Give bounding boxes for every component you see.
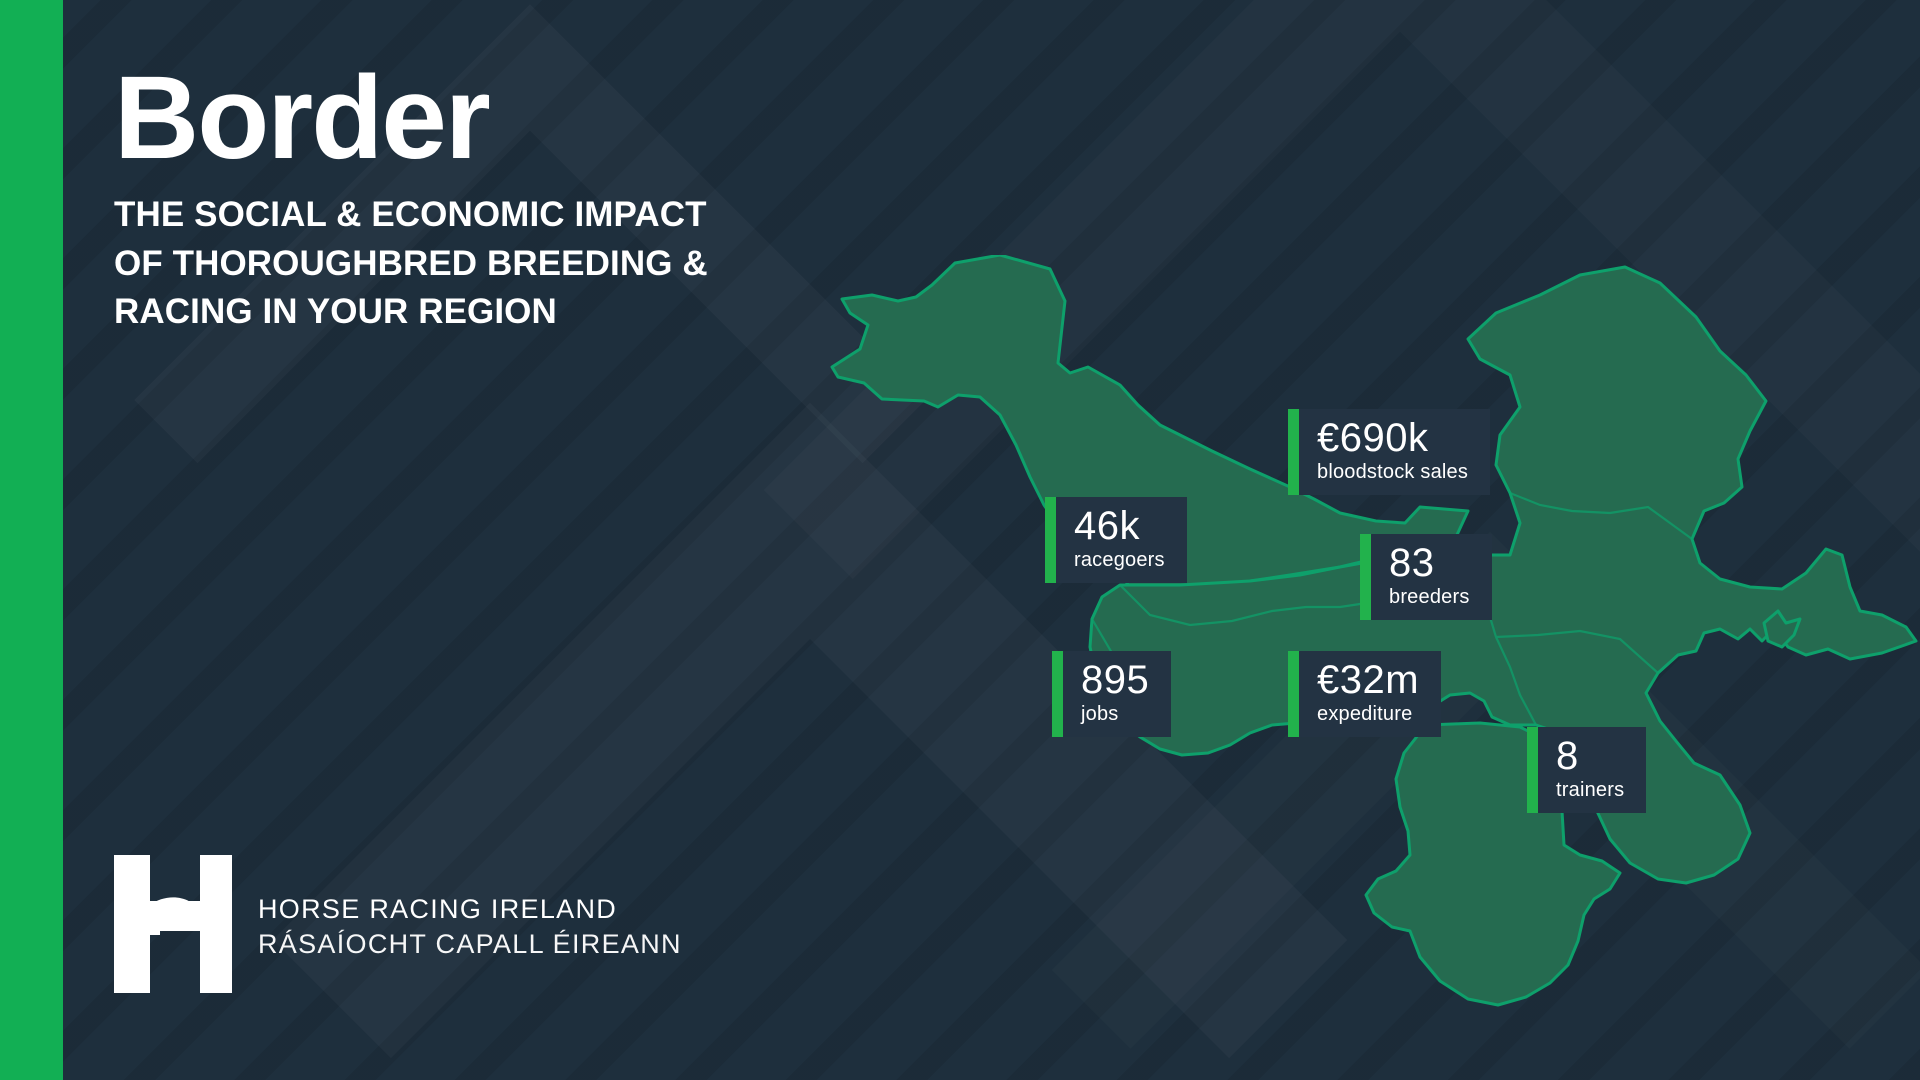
stat-value: €32m: [1317, 660, 1419, 700]
stat-accent-bar: [1288, 409, 1299, 495]
left-green-accent-bar: [0, 0, 63, 1080]
stat-label: bloodstock sales: [1317, 461, 1468, 484]
brand-name-irish: RÁSAÍOCHT CAPALL ÉIREANN: [258, 927, 682, 962]
subtitle-line-2: OF THOROUGHBRED BREEDING &: [114, 240, 934, 288]
hri-monogram-icon: [114, 855, 232, 998]
stat-card-racegoers[interactable]: 46k racegoers: [1045, 497, 1187, 583]
stat-label: trainers: [1556, 779, 1624, 802]
stat-label: expediture: [1317, 703, 1419, 726]
stat-label: breeders: [1389, 586, 1470, 609]
stat-value: 46k: [1074, 506, 1165, 546]
headline-block: Border THE SOCIAL & ECONOMIC IMPACT OF T…: [114, 62, 934, 336]
stat-value: €690k: [1317, 418, 1468, 458]
stat-label: jobs: [1081, 703, 1149, 726]
stat-accent-bar: [1288, 651, 1299, 737]
stat-label: racegoers: [1074, 549, 1165, 572]
infographic-canvas: Border THE SOCIAL & ECONOMIC IMPACT OF T…: [0, 0, 1920, 1080]
stat-value: 8: [1556, 736, 1624, 776]
page-subtitle: THE SOCIAL & ECONOMIC IMPACT OF THOROUGH…: [114, 191, 934, 336]
stat-value: 83: [1389, 543, 1470, 583]
stat-accent-bar: [1527, 727, 1538, 813]
stat-card-bloodstock-sales[interactable]: €690k bloodstock sales: [1288, 409, 1490, 495]
stat-card-breeders[interactable]: 83 breeders: [1360, 534, 1492, 620]
stat-card-jobs[interactable]: 895 jobs: [1052, 651, 1171, 737]
stat-value: 895: [1081, 660, 1149, 700]
subtitle-line-1: THE SOCIAL & ECONOMIC IMPACT: [114, 191, 934, 239]
page-title: Border: [114, 62, 934, 175]
stat-accent-bar: [1045, 497, 1056, 583]
stat-accent-bar: [1360, 534, 1371, 620]
stat-card-expediture[interactable]: €32m expediture: [1288, 651, 1441, 737]
stat-accent-bar: [1052, 651, 1063, 737]
stat-card-trainers[interactable]: 8 trainers: [1527, 727, 1646, 813]
brand-name-english: HORSE RACING IRELAND: [258, 892, 682, 927]
brand-logo: HORSE RACING IRELAND RÁSAÍOCHT CAPALL ÉI…: [114, 855, 682, 998]
subtitle-line-3: RACING IN YOUR REGION: [114, 288, 934, 336]
